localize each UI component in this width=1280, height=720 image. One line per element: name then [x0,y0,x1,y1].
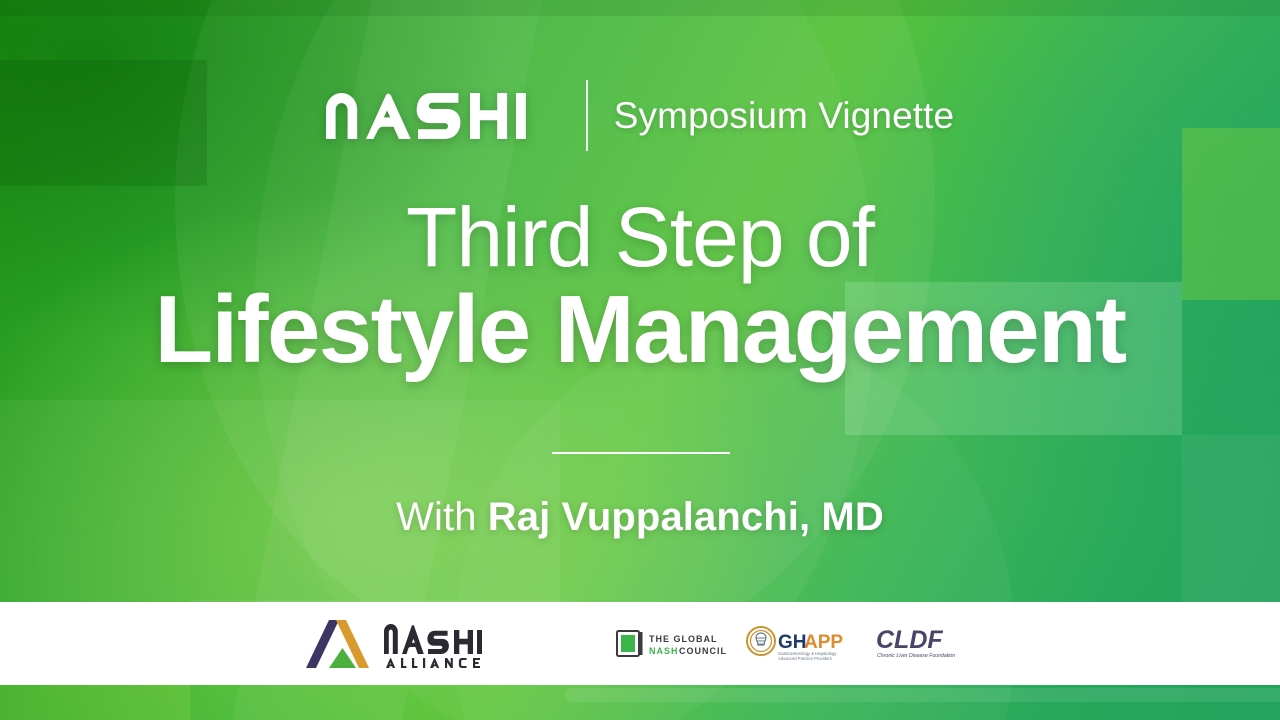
ghapp-app: APP [804,632,843,653]
header-lockup: Symposium Vignette [0,80,1280,151]
header-divider [586,80,588,151]
title-line-1: Third Step of [0,196,1280,278]
background-block-bottom-left [0,685,190,720]
cldf-primary: CLDF [876,626,943,654]
presenter-prefix: With [396,495,476,539]
ghapp-logo: GH APP Gastroenterology & Hepatology Adv… [746,624,854,664]
global-nash-council-logo: THE GLOBAL NASH COUNCIL [616,627,728,661]
presenter-line: With Raj Vuppalanchi, MD [0,495,1280,540]
presentation-slide: Symposium Vignette Third Step of Lifesty… [0,0,1280,720]
gnc-nash: NASH [649,646,679,656]
title-line-2: Lifestyle Management [0,280,1280,380]
background-bar-bottom [565,688,1280,702]
ghapp-gh: GH [778,632,807,653]
series-label: Symposium Vignette [614,95,954,137]
background-top-band [0,0,1280,16]
gnc-line1: THE GLOBAL [649,634,718,644]
footer-logo-bar: THE GLOBAL NASH COUNCIL GH APP Gastroe [0,602,1280,685]
gnc-council: COUNCIL [679,646,727,656]
title-divider-rule [552,452,730,454]
presenter-name: Raj Vuppalanchi, MD [488,495,884,539]
title-block: Third Step of Lifestyle Management [0,196,1280,380]
cldf-tagline: Chronic Liver Disease Foundation [877,653,955,659]
ghapp-tagline-2: Advanced Practice Providers [778,656,832,661]
mash-alliance-logo [306,618,556,670]
mash-wordmark-icon [326,93,558,139]
cldf-logo: CLDF Chronic Liver Disease Foundation [874,626,974,662]
